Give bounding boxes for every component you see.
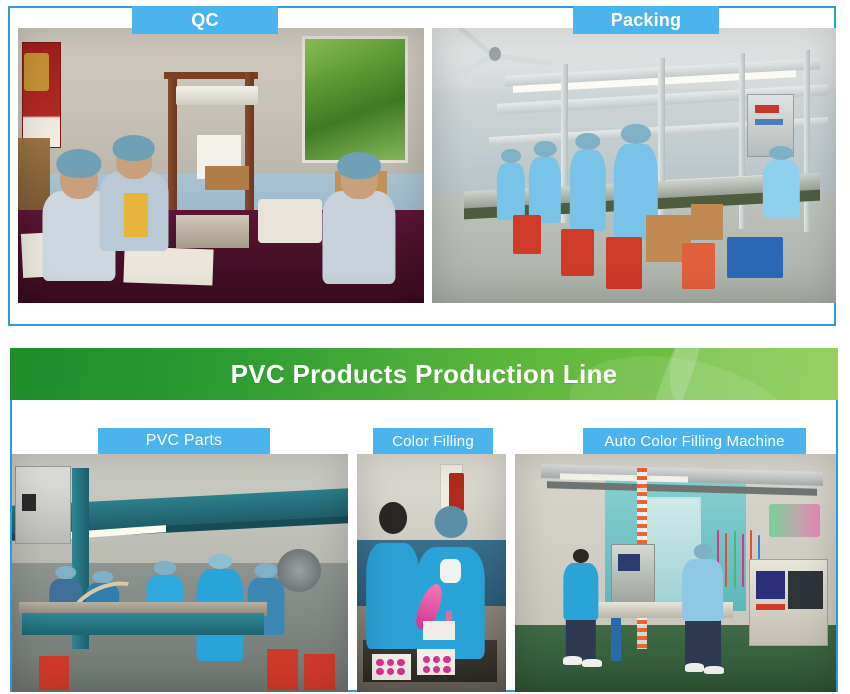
pvc-dot-10 [423, 666, 430, 673]
wire-orange-1 [725, 533, 727, 587]
pvc-dot-12 [443, 666, 450, 673]
auto-machine-worker-2-shoe-left [685, 663, 704, 671]
auto-machine-worker-1-body [563, 563, 598, 620]
packing-worker-5 [763, 146, 799, 218]
qc-inspection-lamp [176, 86, 257, 105]
packing-worker-2 [529, 141, 561, 224]
cnc-controller-indicator [756, 604, 785, 610]
auto-machine-worker-2-legs [685, 619, 721, 669]
color-filling-worker-1-body [366, 543, 420, 649]
wire-pink-2 [742, 534, 744, 587]
packing-stool-3 [606, 237, 642, 289]
packing-worker-5-body [763, 160, 799, 218]
ceiling-fan-hub [489, 47, 501, 61]
page-root: QC Packing PVC Products Production Line [0, 0, 850, 694]
packing-stool-2 [561, 229, 593, 276]
qc-worker-2-apron [124, 193, 148, 237]
packing-stool-4 [682, 243, 714, 290]
wire-green-1 [734, 531, 736, 588]
label-qc-text: QC [191, 10, 218, 31]
qc-rack-crossbar [164, 72, 257, 79]
color-filling-photo [357, 454, 506, 692]
qc-paper-sheet-middle [123, 246, 214, 285]
packing-worker-1-hairnet [501, 149, 521, 163]
auto-machine-worker-1-legs [566, 617, 596, 659]
color-filling-worker-1 [366, 502, 420, 650]
qc-window-palm [302, 36, 408, 163]
color-filling-worker-1-hair [379, 502, 407, 534]
qc-worker-3-hairnet [337, 152, 381, 180]
packing-worker-3-hairnet [575, 133, 600, 151]
packing-blue-crate [727, 237, 784, 278]
cnc-controller-keypad [788, 571, 823, 609]
control-panel-buttons [755, 119, 783, 126]
pvc-dot-2 [387, 659, 394, 666]
packing-worker-1 [497, 149, 525, 221]
color-filling-sheet-1 [372, 654, 411, 680]
color-filling-face-mask [440, 559, 461, 583]
packing-frame-column-4 [804, 50, 810, 232]
pvc-worker-1-hairnet [55, 566, 77, 579]
auto-filling-unit-display [618, 554, 640, 571]
pvc-stool-2 [267, 649, 297, 689]
packing-worker-3 [569, 133, 605, 232]
auto-machine-worker-2 [682, 544, 724, 668]
packing-worker-1-body [497, 163, 525, 220]
pvc-dot-3 [397, 659, 404, 666]
auto-machine-worker-2-body [682, 559, 724, 621]
color-filling-worker-2-hairnet [434, 506, 467, 538]
auto-machine-color-bins [769, 504, 820, 537]
qc-calendar-character [24, 53, 48, 92]
label-auto-color-filling-machine-text: Auto Color Filling Machine [604, 433, 784, 450]
label-packing-text: Packing [611, 10, 681, 31]
qc-worker-3-body [322, 191, 395, 283]
pvc-cabinet-switch [22, 494, 35, 511]
pvc-worker-5-hairnet [254, 563, 277, 577]
qc-carton-middle [205, 166, 250, 191]
pvc-stool-1 [39, 656, 69, 689]
pvc-section-header: PVC Products Production Line [10, 348, 838, 400]
auto-machine-worker-2-hairnet [694, 544, 712, 559]
label-qc: QC [132, 6, 278, 34]
cnc-controller-screen [756, 571, 785, 600]
control-panel-display [755, 105, 779, 113]
packing-line-photo [432, 28, 836, 303]
pvc-worktable-frame [22, 613, 264, 634]
pvc-section-title: PVC Products Production Line [10, 348, 838, 400]
pvc-worker-3-hairnet [153, 561, 176, 575]
packing-carton-2 [691, 204, 723, 240]
label-pvc-parts-text: PVC Parts [146, 432, 223, 450]
pvc-dot-6 [397, 668, 404, 675]
qc-product-stack [176, 215, 249, 248]
pvc-stool-3 [304, 654, 334, 690]
packing-worker-4-hairnet [621, 124, 651, 144]
pvc-dot-1 [376, 659, 383, 666]
qc-worker-3 [323, 152, 396, 284]
label-color-filling-text: Color Filling [392, 433, 474, 450]
pvc-parts-photo [12, 454, 348, 692]
packing-stool-1 [513, 215, 541, 254]
qc-plastic-bag [258, 199, 323, 243]
auto-color-filling-machine-photo [515, 454, 836, 692]
qc-worker-1-hairnet [56, 149, 101, 178]
label-color-filling: Color Filling [373, 428, 493, 454]
qc-inspection-photo [18, 28, 424, 303]
auto-machine-worker-1-shoe-left [563, 656, 582, 664]
label-pvc-parts: PVC Parts [98, 428, 270, 454]
auto-machine-worker-1 [563, 549, 598, 658]
label-auto-color-filling-machine: Auto Color Filling Machine [583, 428, 806, 454]
auto-machine-worker-1-head [573, 549, 589, 563]
pvc-worker-4-hairnet [209, 554, 233, 569]
packing-worker-5-hairnet [769, 146, 793, 160]
packing-worker-2-body [529, 157, 561, 223]
auto-machine-bench-leg [611, 618, 621, 661]
auto-machine-worker-2-shoe-right [704, 666, 723, 674]
label-packing: Packing [573, 6, 719, 34]
color-filling-sheet-3 [423, 621, 456, 640]
packing-worker-2-hairnet [534, 141, 557, 158]
auto-machine-worker-1-shoe-right [582, 659, 601, 667]
packing-worker-3-body [569, 150, 605, 231]
qc-worker-2-hairnet [112, 135, 155, 160]
